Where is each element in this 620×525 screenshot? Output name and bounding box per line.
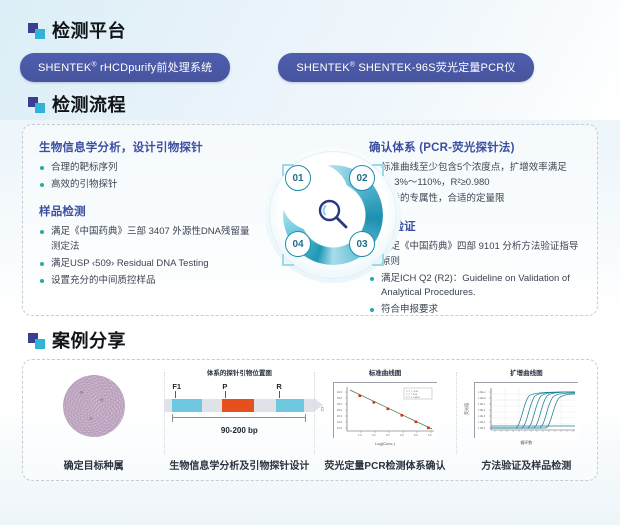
svg-text:1.0E-3: 1.0E-3 (478, 415, 486, 418)
svg-text:1.0E-4: 1.0E-4 (478, 421, 486, 424)
svg-text:6.0: 6.0 (428, 433, 432, 437)
svg-text:20.0: 20.0 (337, 414, 343, 418)
svg-text:3.0: 3.0 (386, 433, 390, 437)
pill-text: rHCDpurify前处理系统 (97, 62, 213, 74)
bracket-bottom-right-icon (372, 254, 384, 266)
case-caption: 确定目标种属 (23, 457, 164, 472)
section-title-cases: 案例分享 (52, 332, 126, 350)
bullet-list: 合理的靶标序列 高效的引物探针 (39, 161, 251, 192)
step-badge-01[interactable]: 01 (285, 165, 311, 191)
cell-microscopy-photo (63, 375, 125, 437)
section-header-flow: 检测流程 (28, 96, 620, 114)
primer-label-p: P (222, 382, 227, 391)
cases-panel: 确定目标种属 体系的探针引物位置图 F1 P R (22, 359, 598, 481)
primer-span-line (172, 417, 306, 425)
platform-pill-row: SHENTEK® rHCDpurify前处理系统 SHENTEK® SHENTE… (20, 53, 620, 82)
svg-text:1.0E-1: 1.0E-1 (478, 403, 486, 406)
case-caption: 生物信息学分析及引物探针设计 (164, 457, 314, 472)
svg-text:1.0E-5: 1.0E-5 (478, 427, 486, 430)
list-item: 符合申报要求 (369, 303, 581, 318)
standard-curve-title: 标准曲线图 (369, 367, 402, 377)
primer-segment-probe (222, 399, 254, 412)
two-squares-icon (28, 23, 45, 39)
primer-segment-r (276, 399, 304, 412)
svg-text:2.0: 2.0 (372, 433, 376, 437)
amplification-curve-plot: 1.0E+11.0E+0 1.0E-11.0E-2 1.0E-31.0E-4 1… (475, 383, 579, 439)
svg-text:35.0: 35.0 (337, 396, 343, 400)
bullet-list: 满足《中国药典》三部 3407 外源性DNA残留量测定法 满足USP ‹509›… (39, 225, 251, 288)
block-title: 样品检测 (39, 203, 251, 219)
poster-page: 检测平台 SHENTEK® rHCDpurify前处理系统 SHENTEK® S… (0, 0, 620, 525)
case-caption: 方法验证及样品检测 (456, 457, 597, 472)
amplification-curve-xlabel: 循环数 (474, 440, 578, 446)
section-title-platform: 检测平台 (52, 22, 126, 40)
svg-text:1.0E-2: 1.0E-2 (478, 409, 486, 412)
case-column-method-validation: 扩增曲线图 (456, 360, 597, 480)
svg-text:4.0: 4.0 (400, 433, 404, 437)
amplification-curve-chart: 1.0E+11.0E+0 1.0E-11.0E-2 1.0E-31.0E-4 1… (474, 380, 578, 438)
list-item: 满足《中国药典》三部 3407 外源性DNA残留量测定法 (39, 225, 251, 254)
svg-text:5.0: 5.0 (414, 433, 418, 437)
primer-position-map: F1 P R 90-200 bp (164, 382, 314, 435)
magnifier-icon (315, 196, 351, 232)
pill-brand: SHENTEK (296, 62, 349, 74)
two-squares-icon (28, 333, 45, 349)
svg-text:30.0: 30.0 (337, 402, 343, 406)
list-item: 满足USP ‹509› Residual DNA Testing (39, 257, 251, 272)
standard-curve-plot: 40.035.0 30.025.0 20.015.0 10.0 1.02.0 3… (334, 383, 438, 439)
case-column-primer-design: 体系的探针引物位置图 F1 P R 90-200 bp (164, 360, 314, 480)
two-squares-icon (28, 97, 45, 113)
step-badge-03[interactable]: 03 (349, 231, 375, 257)
pill-text: SHENTEK-96S荧光定量PCR仪 (355, 62, 515, 74)
svg-text:0.9997: 0.9997 (413, 397, 420, 399)
flow-panel: 生物信息学分析，设计引物探针 合理的靶标序列 高效的引物探针 样品检测 满足《中… (22, 124, 598, 316)
step-badge-04[interactable]: 04 (285, 231, 311, 257)
primer-segment-f1 (172, 399, 202, 412)
primer-backbone-bar (164, 399, 314, 412)
svg-text:1.0: 1.0 (358, 433, 362, 437)
svg-text:40.0: 40.0 (337, 390, 343, 394)
section-header-platform: 检测平台 (28, 22, 620, 40)
standard-curve-ylabel: Ct (319, 407, 324, 411)
amplification-curve-title: 扩增曲线图 (510, 367, 543, 377)
list-item: 设置充分的中间质控样品 (39, 274, 251, 289)
pill-brand: SHENTEK (38, 62, 91, 74)
flow-block-sample-testing: 样品检测 满足《中国药典》三部 3407 外源性DNA残留量测定法 满足USP … (39, 203, 251, 288)
flow-column-left: 生物信息学分析，设计引物探针 合理的靶标序列 高效的引物探针 样品检测 满足《中… (39, 139, 251, 329)
case-column-target-species: 确定目标种属 (23, 360, 164, 480)
svg-text:1.0E+0: 1.0E+0 (478, 397, 486, 400)
list-item: 高效的引物探针 (39, 178, 251, 193)
step-badge-02[interactable]: 02 (349, 165, 375, 191)
primer-span-label: 90-200 bp (164, 426, 314, 435)
block-title: 生物信息学分析，设计引物探针 (39, 139, 251, 155)
case-column-pcr-confirmation: 标准曲线图 (314, 360, 455, 480)
section-header-cases: 案例分享 (28, 332, 620, 350)
amplification-curve-ylabel: 荧光值 (464, 403, 470, 415)
list-item: 合理的靶标序列 (39, 161, 251, 176)
svg-text:25.0: 25.0 (337, 408, 343, 412)
svg-text:-3.35: -3.35 (413, 391, 419, 393)
section-title-flow: 检测流程 (52, 96, 126, 114)
primer-map-title: 体系的探针引物位置图 (207, 367, 272, 377)
standard-curve-xlabel: Log(Conc.) (333, 441, 437, 446)
primer-labels: F1 P R (164, 382, 314, 399)
svg-text:1.0E+1: 1.0E+1 (478, 391, 486, 394)
case-caption: 荧光定量PCR检测体系确认 (314, 457, 455, 472)
primer-label-f1: F1 (172, 382, 181, 391)
platform-pill-rhcdpurify[interactable]: SHENTEK® rHCDpurify前处理系统 (20, 53, 230, 82)
primer-label-r: R (276, 382, 281, 391)
platform-pill-shentek-96s[interactable]: SHENTEK® SHENTEK-96S荧光定量PCR仪 (278, 53, 533, 82)
svg-text:10.0: 10.0 (337, 426, 343, 430)
standard-curve-chart: 40.035.0 30.025.0 20.015.0 10.0 1.02.0 3… (333, 380, 437, 438)
flow-circle-graphic: 01 02 03 04 (265, 147, 401, 283)
flow-block-bioinformatics: 生物信息学分析，设计引物探针 合理的靶标序列 高效的引物探针 (39, 139, 251, 192)
svg-text:15.0: 15.0 (337, 420, 343, 424)
